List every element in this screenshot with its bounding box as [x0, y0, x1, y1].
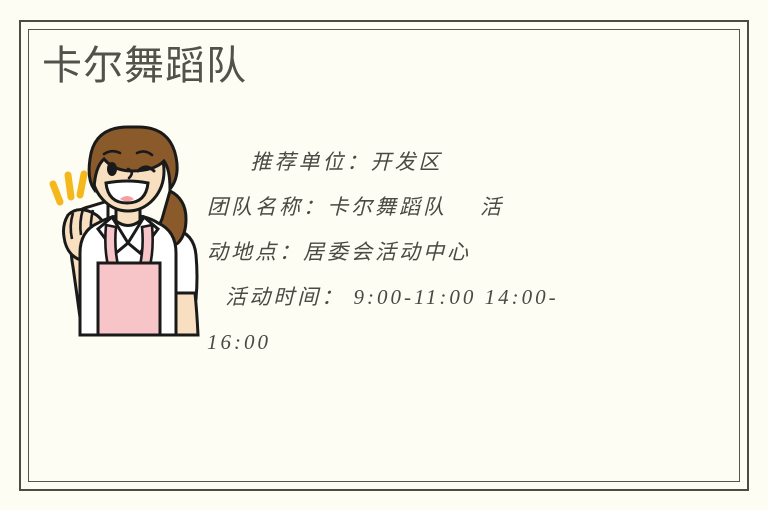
info-line-recommending-unit: 推荐单位：开发区	[207, 140, 647, 185]
info-line-location: 动地点：居委会活动中心	[207, 230, 647, 275]
info-line-team-name: 团队名称：卡尔舞蹈队 活	[207, 185, 647, 230]
info-line-time-cont: 16:00	[207, 320, 647, 365]
illustration-smiling-woman	[42, 117, 210, 339]
info-block: 推荐单位：开发区 团队名称：卡尔舞蹈队 活 动地点：居委会活动中心 活动时间： …	[207, 140, 647, 365]
info-line-time: 活动时间： 9:00-11:00 14:00-	[207, 275, 647, 320]
eye-open	[107, 162, 117, 176]
page-title: 卡尔舞蹈队	[42, 44, 247, 88]
sparkle-icon	[53, 174, 84, 202]
